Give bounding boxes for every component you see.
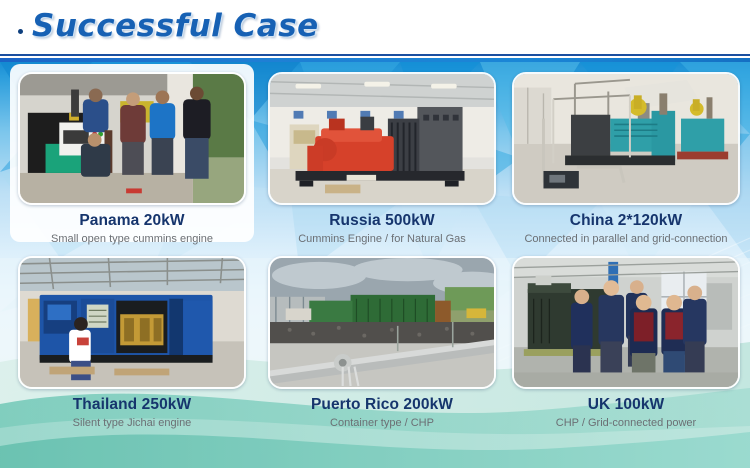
case-card[interactable]: Thailand 250kW Silent type Jichai engine: [18, 256, 246, 429]
case-caption: Russia 500kW Cummins Engine / for Natura…: [268, 205, 496, 245]
case-card[interactable]: Russia 500kW Cummins Engine / for Natura…: [268, 72, 496, 245]
photo-china-parallel-generators: [514, 74, 738, 203]
case-caption: Panama 20kW Small open type cummins engi…: [18, 205, 246, 245]
photo-russia-gas-generator: [270, 74, 494, 203]
page-header-inner: Successful Case: [18, 8, 319, 44]
successful-case-page: Panama 20kW Small open type cummins engi…: [0, 0, 750, 468]
case-card[interactable]: China 2*120kW Connected in parallel and …: [512, 72, 740, 245]
page-title: Successful Case: [32, 8, 319, 44]
case-subtitle: CHP / Grid-connected power: [512, 417, 740, 430]
case-card[interactable]: UK 100kW CHP / Grid-connected power: [512, 256, 740, 429]
case-subtitle: Connected in parallel and grid-connectio…: [512, 233, 740, 246]
case-subtitle: Small open type cummins engine: [18, 233, 246, 246]
case-title: China 2*120kW: [512, 212, 740, 230]
photo-thailand-silent-generator: [20, 258, 244, 387]
case-title: Thailand 250kW: [18, 396, 246, 414]
case-photo[interactable]: [18, 256, 246, 389]
photo-panama-generator: [20, 74, 244, 203]
case-title: Puerto Rico 200kW: [268, 396, 496, 414]
case-photo[interactable]: [268, 72, 496, 205]
case-caption: UK 100kW CHP / Grid-connected power: [512, 389, 740, 429]
case-subtitle: Container type / CHP: [268, 417, 496, 430]
case-title: Panama 20kW: [18, 212, 246, 230]
photo-uk-team-with-generator: [514, 258, 738, 387]
bullet-dot-icon: [18, 29, 23, 34]
case-photo[interactable]: [268, 256, 496, 389]
case-caption: China 2*120kW Connected in parallel and …: [512, 205, 740, 245]
case-card[interactable]: Panama 20kW Small open type cummins engi…: [18, 72, 246, 245]
case-caption: Thailand 250kW Silent type Jichai engine: [18, 389, 246, 429]
case-caption: Puerto Rico 200kW Container type / CHP: [268, 389, 496, 429]
case-subtitle: Cummins Engine / for Natural Gas: [268, 233, 496, 246]
case-photo[interactable]: [512, 72, 740, 205]
case-photo[interactable]: [18, 72, 246, 205]
case-photo[interactable]: [512, 256, 740, 389]
case-card[interactable]: Puerto Rico 200kW Container type / CHP: [268, 256, 496, 429]
case-title: UK 100kW: [512, 396, 740, 414]
header-rule-light: [0, 58, 750, 62]
case-card-grid: Panama 20kW Small open type cummins engi…: [0, 62, 750, 468]
page-header: Successful Case: [0, 0, 750, 56]
photo-puertorico-container-chp: [270, 258, 494, 387]
case-subtitle: Silent type Jichai engine: [18, 417, 246, 430]
case-title: Russia 500kW: [268, 212, 496, 230]
